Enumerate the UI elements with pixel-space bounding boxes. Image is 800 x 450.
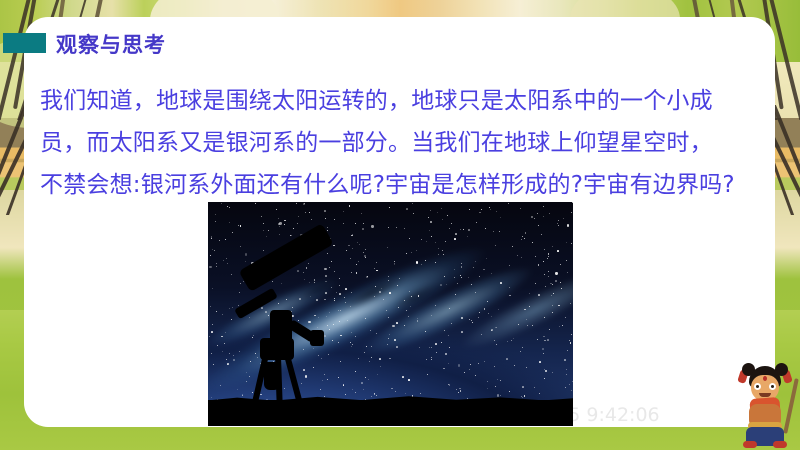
section-title: 观察与思考 <box>56 29 166 59</box>
telescope-milky-way-photo <box>208 202 573 426</box>
slide-canvas: 观察与思考 我们知道，地球是围绕太阳运转的，地球只是太阳系中的一个小成 员，而太… <box>0 0 800 450</box>
mascot-shoe <box>773 441 787 448</box>
telescope-silhouette <box>230 254 340 404</box>
mascot-shoe <box>743 441 757 448</box>
nezha-mascot <box>736 360 794 448</box>
mascot-eye <box>754 383 761 390</box>
section-title-accent-bar <box>3 33 46 53</box>
paragraph-line: 不禁会想:银河系外面还有什么呢?宇宙是怎样形成的?宇宙有边界吗? <box>40 164 752 206</box>
paragraph-line: 员，而太阳系又是银河系的一部分。当我们在地球上仰望星空时， <box>40 122 752 164</box>
paragraph-line: 我们知道，地球是围绕太阳运转的，地球只是太阳系中的一个小成 <box>40 80 752 122</box>
telescope-leg <box>275 354 283 416</box>
mascot-mouth <box>759 393 771 397</box>
body-paragraph: 我们知道，地球是围绕太阳运转的，地球只是太阳系中的一个小成 员，而太阳系又是银河… <box>40 80 752 206</box>
telescope-counterweight <box>310 330 324 346</box>
mascot-eye <box>769 383 776 390</box>
mascot-forehead-mark <box>763 376 767 381</box>
